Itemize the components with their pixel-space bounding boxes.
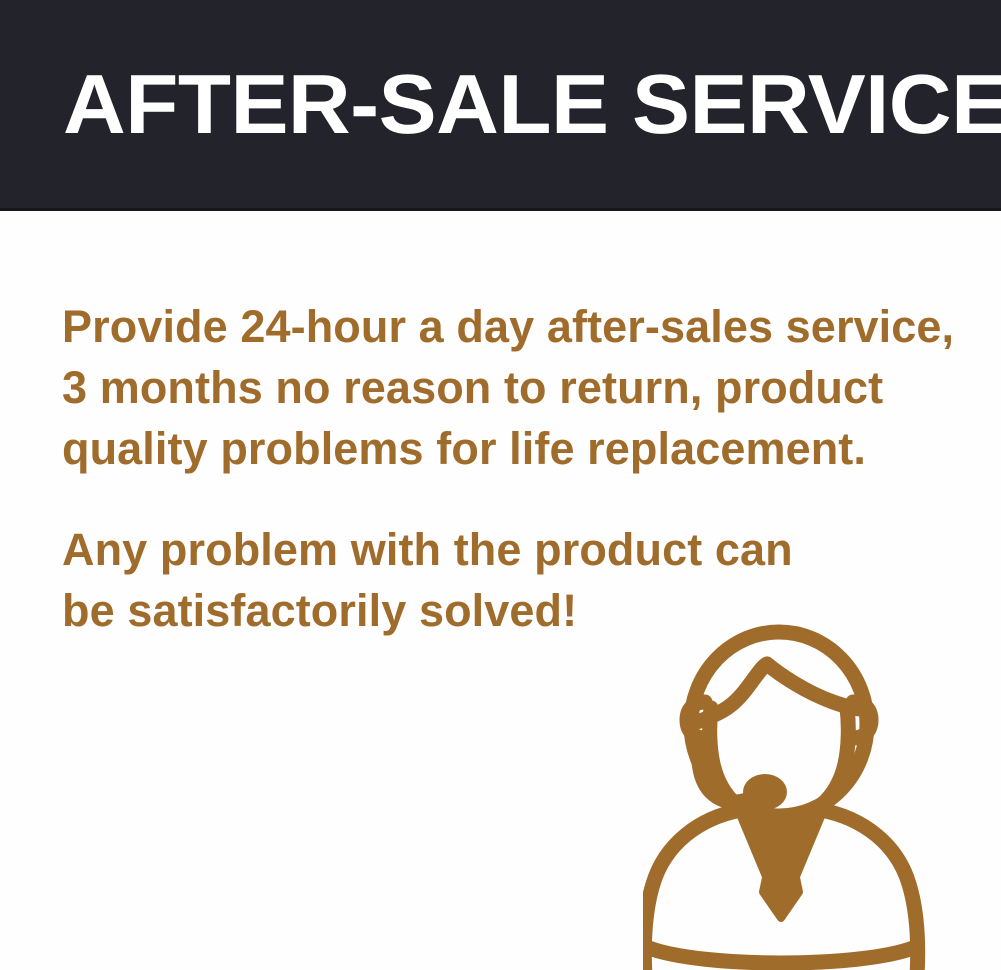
- hair-fringe: [697, 664, 862, 722]
- after-sale-service-banner: AFTER-SALE SERVICE Provide 24-hour a day…: [0, 0, 1001, 970]
- shoulders-hem: [649, 948, 913, 963]
- agent-icon-svg: [643, 596, 963, 970]
- customer-service-agent-icon: [643, 596, 963, 970]
- body-copy: Provide 24-hour a day after-sales servic…: [62, 296, 962, 641]
- paragraph-line: 3 months no reason to return, product: [62, 357, 962, 418]
- paragraph-line: Provide 24-hour a day after-sales servic…: [62, 296, 962, 357]
- paragraph-line: Any problem with the product can: [62, 519, 962, 580]
- page-title: AFTER-SALE SERVICE: [63, 54, 984, 154]
- paragraph-policy: Provide 24-hour a day after-sales servic…: [62, 296, 962, 479]
- necktie: [763, 818, 799, 918]
- header-band: AFTER-SALE SERVICE: [0, 0, 1001, 211]
- paragraph-line: quality problems for life replacement.: [62, 418, 962, 479]
- headset-microphone: [743, 774, 787, 810]
